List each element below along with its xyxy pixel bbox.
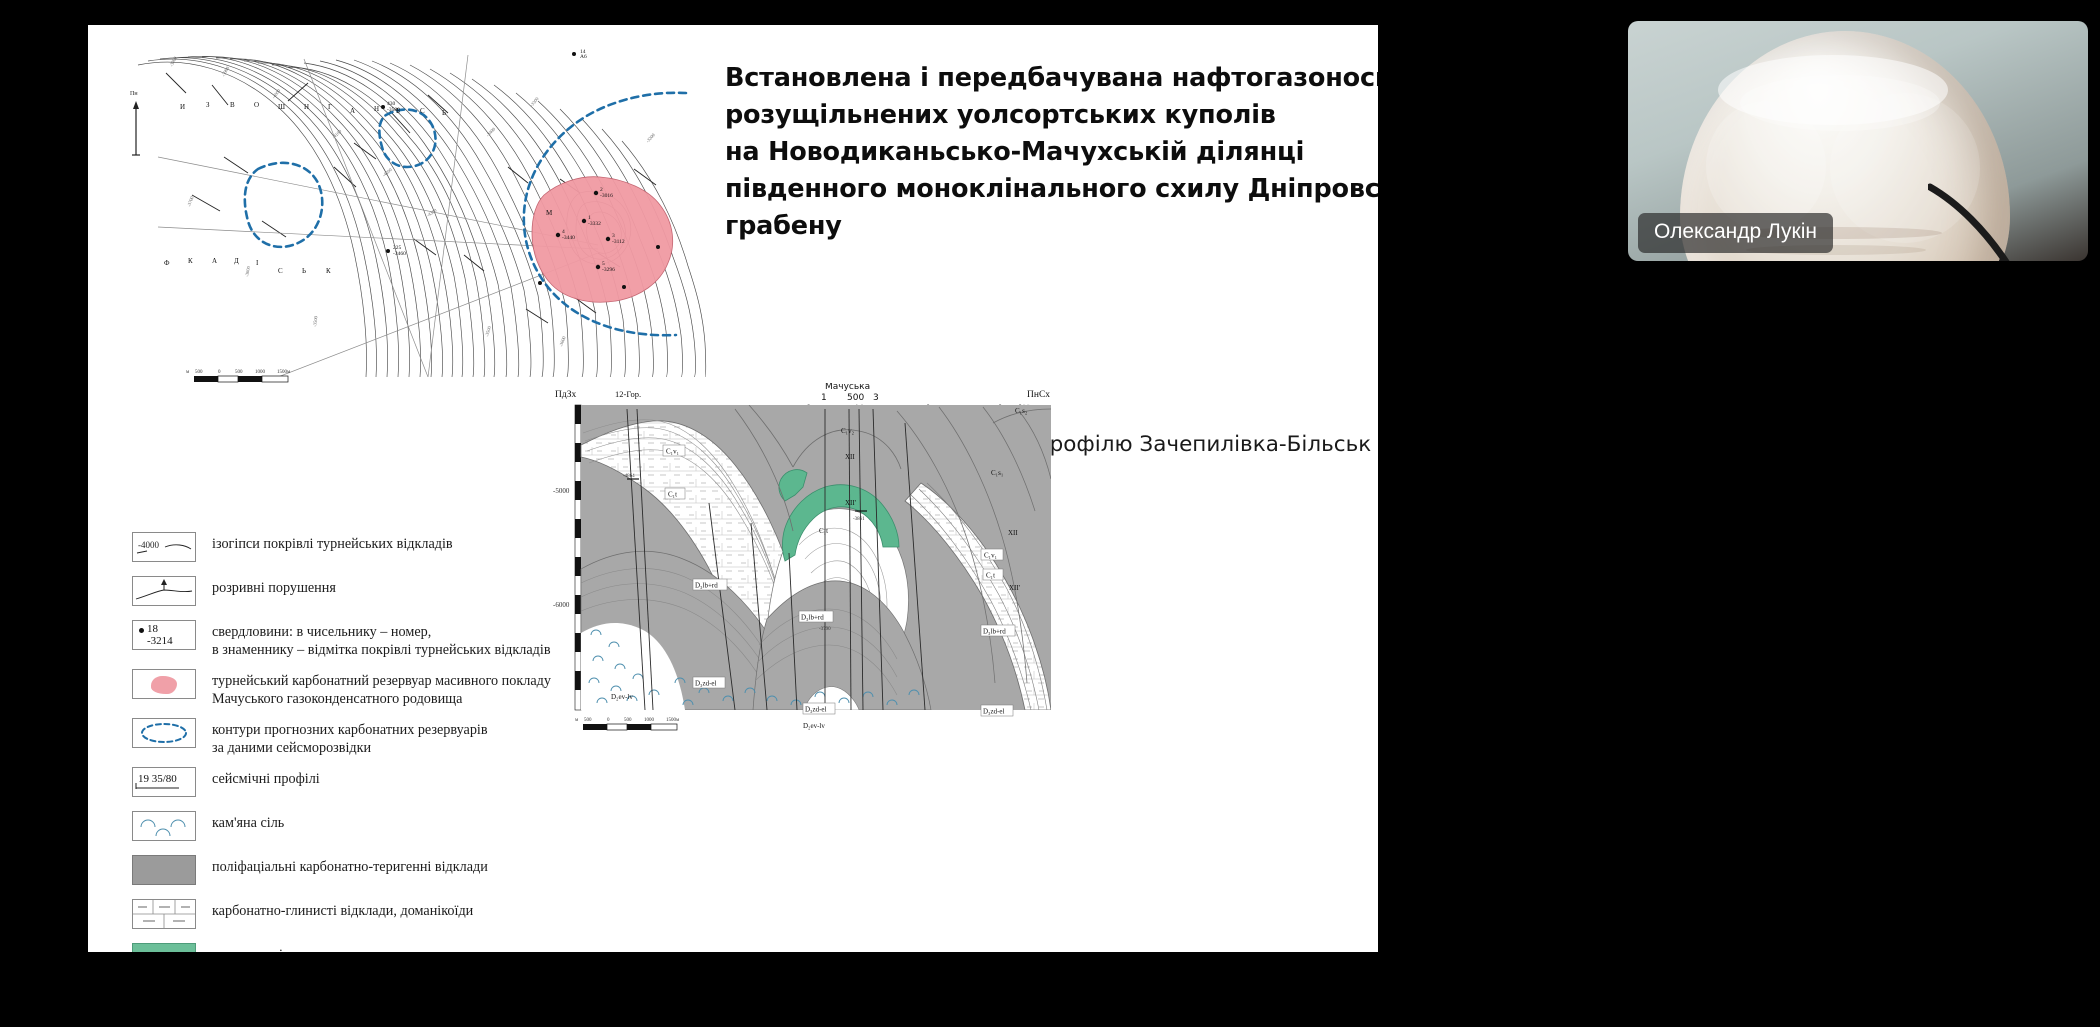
legend-label-rock-salt: кам'яна сіль: [212, 809, 284, 832]
svg-text:D₃lb+rd: D₃lb+rd: [801, 614, 824, 622]
svg-text:-3200: -3200: [645, 132, 656, 144]
svg-text:Б: Б: [396, 107, 400, 115]
presentation-slide: Пн: [88, 25, 1378, 952]
svg-text:-4000: -4000: [271, 88, 282, 100]
well-number-label: 18: [147, 623, 158, 635]
svg-text:D₂ev-lv: D₂ev-lv: [611, 693, 633, 701]
svg-text:-4200: -4200: [381, 167, 393, 178]
legend-item-waulsortian: уолсортські куполи: [132, 941, 712, 952]
svg-text:C₁v₂: C₁v₂: [841, 427, 855, 435]
svg-text:XII: XII: [845, 453, 855, 461]
svg-text:500: 500: [195, 370, 203, 375]
svg-text:500: 500: [847, 393, 864, 403]
green-fill-icon: [132, 943, 196, 952]
svg-text:А: А: [212, 257, 217, 265]
map-scalebar: м 500 0 500 1000 1500м: [186, 367, 296, 392]
svg-text:Ь: Ь: [302, 267, 306, 275]
seismic-line-icon: 19 35/80: [132, 767, 196, 797]
svg-text:А: А: [350, 107, 355, 115]
svg-text:-3500: -3500: [312, 315, 319, 327]
dashed-contour-icon: [132, 718, 196, 748]
title-line-3: на Новодиканьсько-Мачухській ділянці: [725, 134, 1365, 171]
svg-text:D₂ev-lv: D₂ev-lv: [803, 722, 825, 730]
svg-text:-3861: -3861: [853, 517, 865, 522]
svg-text:-3500: -3500: [484, 325, 492, 337]
slide-title: Встановлена і передбачувана нафтогазонос…: [725, 60, 1365, 245]
svg-text:-4864: -4864: [623, 474, 635, 479]
pink-blob-shape: [151, 676, 177, 694]
svg-text:500: 500: [235, 370, 243, 375]
depth-axis-ruler: -5000 -6000: [553, 405, 581, 710]
svg-text:D₃lb+rd: D₃lb+rd: [983, 628, 1006, 636]
svg-text:C₁t: C₁t: [668, 491, 677, 499]
svg-text:В: В: [230, 101, 235, 109]
svg-text:C₁s₂: C₁s₂: [1015, 407, 1028, 415]
svg-text:C₁t: C₁t: [986, 572, 995, 580]
title-line-5: грабену: [725, 208, 1365, 245]
legend-label-waulsortian: уолсортські куполи: [212, 941, 330, 952]
svg-text:-3112: -3112: [612, 239, 625, 245]
legend-item-carbonate-clay: карбонатно-глинисті відклади, доманікоїд…: [132, 897, 712, 933]
svg-text:D₃zd-el: D₃zd-el: [695, 680, 717, 688]
svg-text:D₃zd-el: D₃zd-el: [805, 706, 827, 714]
svg-text:C₁s₁: C₁s₁: [991, 469, 1003, 477]
participant-name-label: Олександр Лукін: [1638, 213, 1833, 253]
svg-text:м: м: [575, 718, 579, 723]
isohypse-contour-icon: -4000: [132, 532, 196, 562]
video-participant-tile[interactable]: Олександр Лукін: [1628, 21, 2088, 261]
field-name-label: Мачуська: [825, 383, 870, 392]
seismic-profile-label: 19 35/80: [138, 773, 177, 785]
svg-text:-3296: -3296: [602, 267, 615, 273]
cross-section-svg: ПдЗх ПнСх 12-Гор. Мачуська 1 500 3: [553, 383, 1073, 743]
legend-label-isohypse: ізогіпси покрівлі турнейських відкладів: [212, 530, 453, 553]
grey-fill-icon: [132, 855, 196, 885]
svg-text:-3440: -3440: [562, 235, 575, 241]
well-depth-label: -3214: [147, 635, 173, 647]
svg-text:1000: 1000: [255, 370, 266, 375]
svg-text:-3800: -3800: [168, 55, 178, 67]
svg-text:1500м: 1500м: [277, 370, 291, 375]
svg-text:500: 500: [584, 718, 592, 723]
screen-root: Пн: [0, 0, 2100, 1027]
svg-text:0: 0: [218, 370, 221, 375]
svg-text:-3600: -3600: [558, 335, 567, 347]
legend-label-polyfacial: поліфаціальні карбонатно-теригенні відкл…: [212, 853, 488, 876]
well-symbol-icon: 18 -3214: [132, 620, 196, 650]
svg-text:К: К: [188, 257, 193, 265]
legend-label-seismic: сейсмічні профілі: [212, 765, 320, 788]
svg-text:Ш: Ш: [278, 103, 285, 111]
carbonate-clay-icon: [132, 899, 196, 929]
legend-item-polyfacial: поліфаціальні карбонатно-теригенні відкл…: [132, 853, 712, 889]
svg-text:Г: Г: [328, 103, 332, 111]
legend-label-fault: розривні порушення: [212, 574, 336, 597]
svg-text:О: О: [254, 101, 259, 109]
north-arrow-icon: Пн: [130, 91, 140, 155]
legend-label-reservoir: турнейський карбонатний резервуар масивн…: [212, 667, 551, 708]
legend-label-prognosis-contour: контури прогнозних карбонатних резервуар…: [212, 716, 488, 757]
svg-text:3: 3: [873, 393, 879, 403]
svg-text:З: З: [206, 101, 210, 109]
svg-text:-3400: -3400: [485, 126, 497, 138]
svg-text:1500м: 1500м: [666, 718, 680, 723]
pink-reservoir-icon: [132, 669, 196, 699]
svg-text:XII: XII: [1008, 529, 1018, 537]
isohypse-value-label: -4000: [138, 540, 159, 550]
svg-text:-3600: -3600: [244, 265, 251, 277]
svg-text:D₃lb+rd: D₃lb+rd: [695, 582, 718, 590]
svg-text:А6: А6: [580, 54, 587, 60]
svg-text:-3460: -3460: [393, 251, 406, 257]
svg-text:0: 0: [607, 718, 610, 723]
contour-map-svg: Пн: [128, 47, 708, 377]
svg-text:1000: 1000: [644, 718, 655, 723]
legend-label-well: свердловини: в чисельнику – номер, в зна…: [212, 618, 551, 659]
svg-text:XII': XII': [845, 499, 856, 507]
svg-text:Д: Д: [234, 257, 239, 265]
depth-tick-6000: -6000: [553, 601, 570, 609]
svg-text:1: 1: [821, 393, 827, 403]
left-well-label: 12-Гор.: [615, 389, 641, 399]
eyeglasses-icon: [1928, 169, 2078, 261]
svg-text:К: К: [326, 267, 331, 275]
depth-tick-5000: -5000: [553, 487, 570, 495]
svg-text:C₁t: C₁t: [819, 527, 828, 535]
svg-text:-3016: -3016: [600, 193, 613, 199]
legend-item-rock-salt: кам'яна сіль: [132, 809, 712, 845]
direction-label-ne: ПнСх: [1027, 390, 1050, 400]
svg-text:С: С: [278, 267, 283, 275]
geological-cross-section: ПдЗх ПнСх 12-Гор. Мачуська 1 500 3: [553, 383, 1073, 743]
direction-label-sw: ПдЗх: [555, 390, 576, 400]
rock-salt-icon: [132, 811, 196, 841]
svg-text:Н: Н: [304, 103, 309, 111]
legend-item-seismic: 19 35/80 сейсмічні профілі: [132, 765, 712, 801]
cross-section-scalebar: м 500 0 500 1000 1500м: [575, 718, 680, 730]
svg-text:-3700: -3700: [186, 195, 195, 207]
svg-text:Ф: Ф: [164, 259, 170, 267]
title-line-1: Встановлена і передбачувана нафтогазонос…: [725, 60, 1365, 97]
svg-text:М: М: [546, 209, 553, 217]
svg-text:C₁v₁: C₁v₁: [984, 552, 997, 560]
svg-text:-3332: -3332: [588, 221, 601, 227]
title-line-4: південного моноклінального схилу Дніпров…: [725, 171, 1365, 208]
well-dot-icon: [139, 628, 144, 633]
svg-text:C₁v₁: C₁v₁: [666, 448, 679, 456]
svg-text:Н: Н: [374, 105, 379, 113]
svg-text:Ь: Ь: [442, 109, 446, 117]
fault-symbol-icon: [132, 576, 196, 606]
svg-text:D₃zd-el: D₃zd-el: [983, 708, 1005, 716]
svg-text:С: С: [420, 107, 425, 115]
title-line-2: розущільнених уолсортських куполів: [725, 97, 1365, 134]
svg-text:І: І: [256, 259, 259, 267]
structural-contour-map: Пн: [128, 47, 708, 377]
svg-text:м: м: [186, 370, 190, 375]
svg-text:-3790: -3790: [819, 627, 831, 632]
svg-text:XII': XII': [1009, 584, 1020, 592]
svg-text:И: И: [180, 103, 185, 111]
svg-text:500: 500: [624, 718, 632, 723]
legend-label-carbonate-clay: карбонатно-глинисті відклади, доманікоїд…: [212, 897, 473, 920]
svg-text:Пн: Пн: [130, 91, 138, 97]
